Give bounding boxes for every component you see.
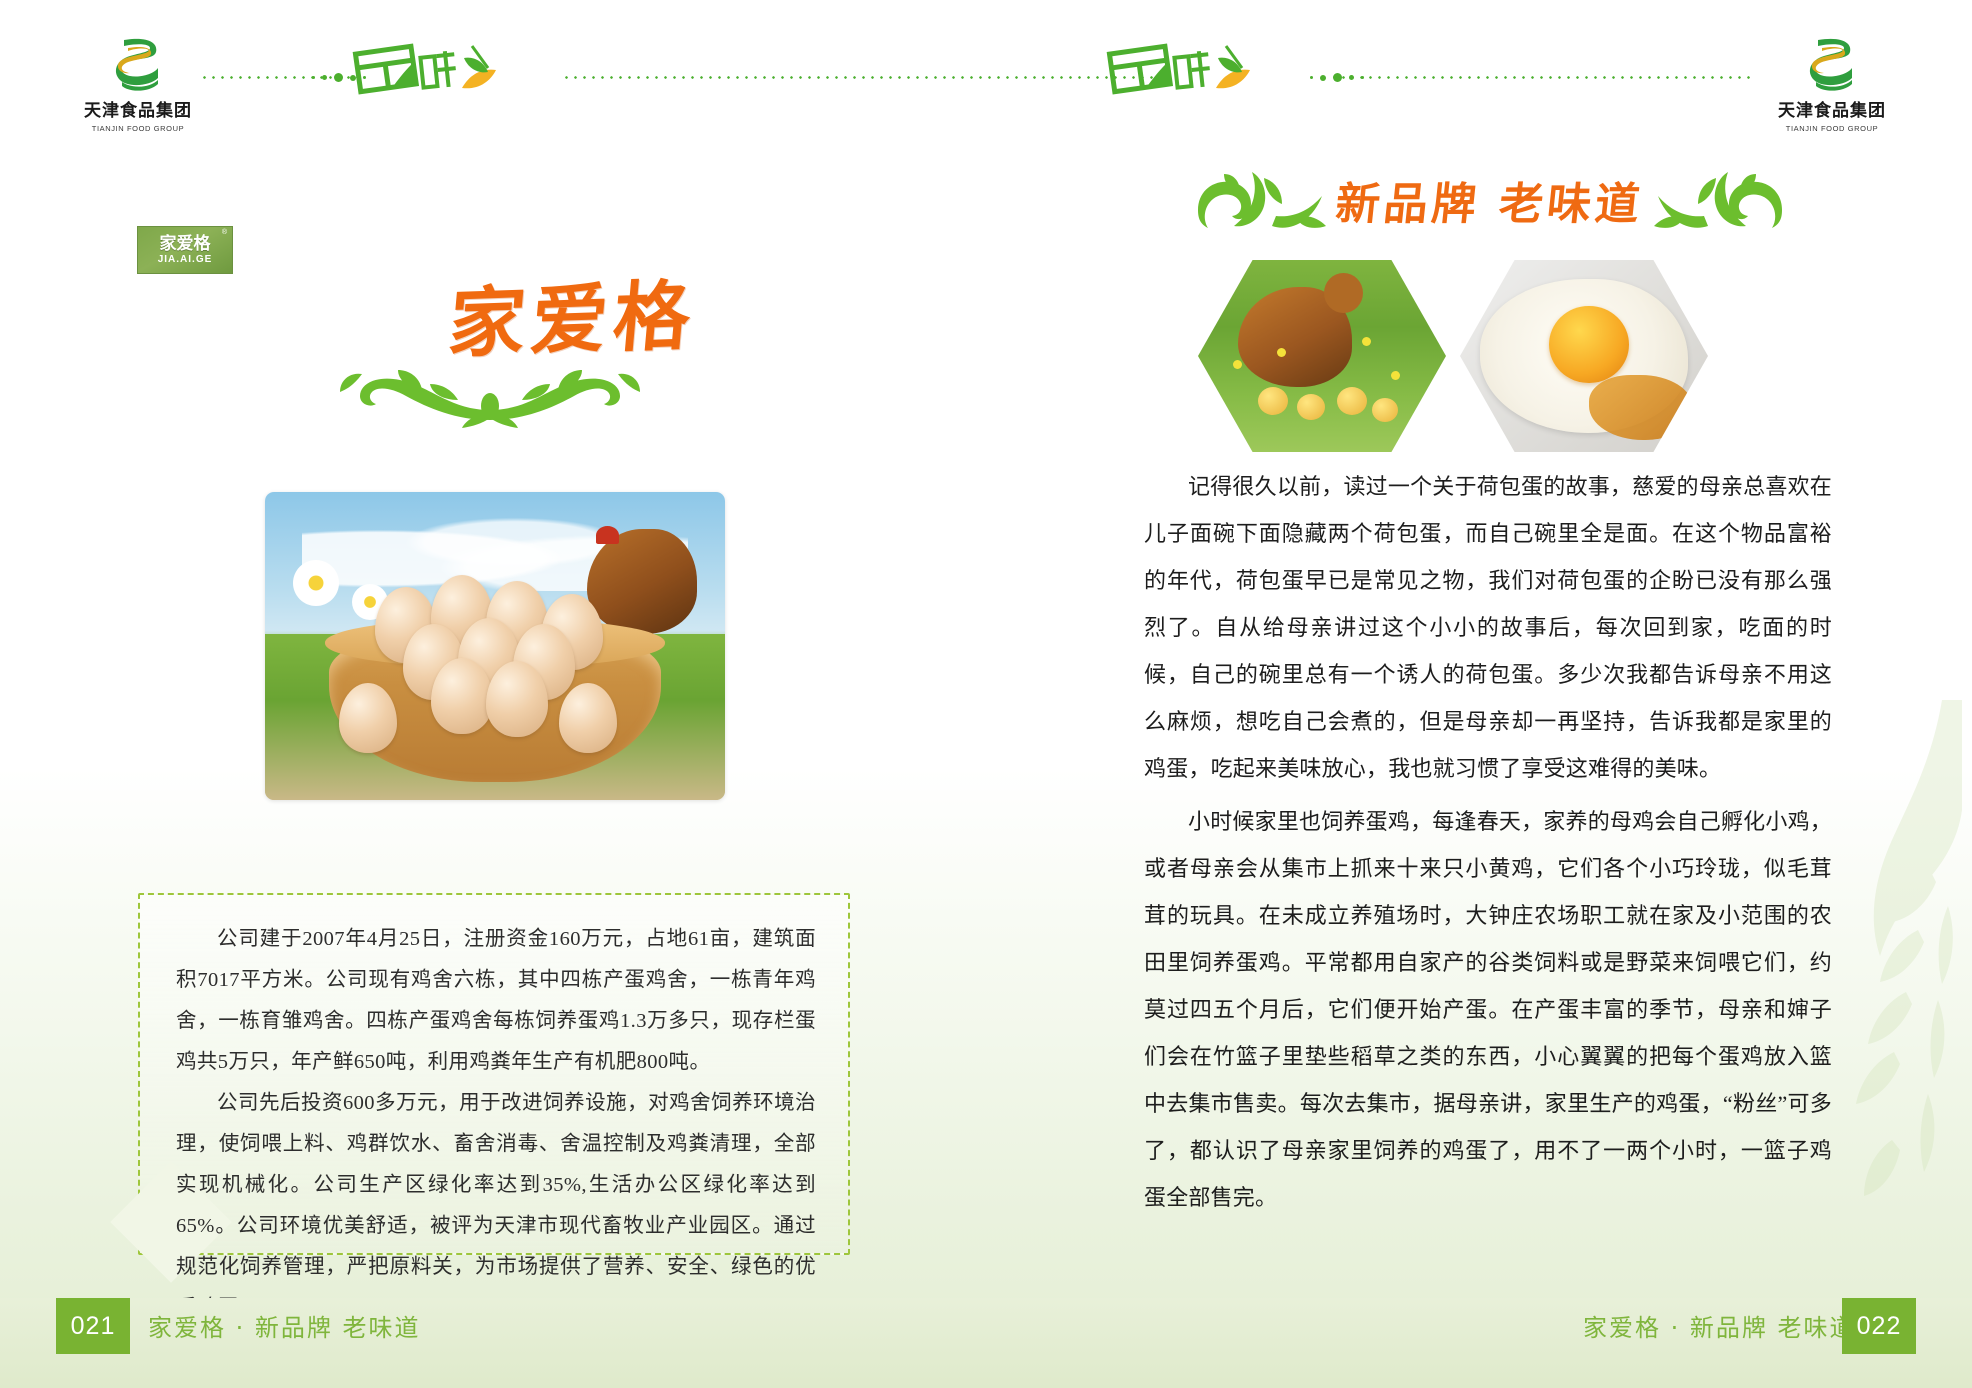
corporate-logo-right: 天津食品集团 TIANJIN FOOD GROUP — [1772, 34, 1892, 133]
page-header: 天津食品集团 TIANJIN FOOD GROUP 天津食品集团 TIANJIN… — [0, 0, 1972, 150]
corporate-name: 天津食品集团 — [1772, 102, 1892, 121]
story-paragraph: 记得很久以前，读过一个关于荷包蛋的故事，慈爱的母亲总喜欢在儿子面碗下面隐藏两个荷… — [1144, 463, 1832, 792]
egg-basket-photo — [265, 492, 725, 800]
tianjin-food-group-mark-icon — [106, 34, 170, 96]
story-body-text: 记得很久以前，读过一个关于荷包蛋的故事，慈爱的母亲总喜欢在儿子面碗下面隐藏两个荷… — [1144, 463, 1832, 1221]
badge-brand-cn: 家爱格 — [160, 236, 211, 253]
company-info-paragraph: 公司建于2007年4月25日，注册资金160万元，占地61亩，建筑面积7017平… — [176, 919, 816, 1083]
company-info-text: 公司建于2007年4月25日，注册资金160万元，占地61亩，建筑面积7017平… — [176, 919, 816, 1329]
hexagon-photo-pair — [1198, 260, 1698, 452]
header-dotted-rule-right — [1330, 76, 1750, 78]
jiaaige-brand-badge: ® 家爱格 JIA.AI.GE — [137, 226, 233, 274]
right-page-title-block: 新品牌 老味道 — [1190, 152, 1790, 248]
brand-story-emblem-icon — [352, 38, 502, 100]
page-footer: 021 家爱格 · 新品牌 老味道 家爱格 · 新品牌 老味道 022 — [0, 1298, 1972, 1388]
story-paragraph: 小时候家里也饲养蛋鸡，每逢春天，家养的母鸡会自己孵化小鸡，或者母亲会从集市上抓来… — [1144, 798, 1832, 1221]
corporate-name-en: TIANJIN FOOD GROUP — [78, 124, 198, 133]
badge-brand-pinyin: JIA.AI.GE — [158, 254, 213, 265]
vine-ornament-right-icon — [1640, 158, 1790, 244]
tianjin-food-group-mark-icon — [1800, 34, 1864, 96]
corporate-name-en: TIANJIN FOOD GROUP — [1772, 124, 1892, 133]
vine-ornament-left-icon — [1190, 158, 1340, 244]
header-dotted-rule-left — [200, 76, 360, 78]
magazine-spread: 天津食品集团 TIANJIN FOOD GROUP 天津食品集团 TIANJIN… — [0, 0, 1972, 1388]
floral-flourish-ornament-icon — [280, 340, 700, 430]
registered-mark: ® — [222, 229, 227, 236]
right-page-title: 新品牌 老味道 — [1333, 168, 1647, 232]
hen-and-chicks-photo — [1198, 260, 1446, 452]
left-page-number-tab: 021 — [56, 1298, 130, 1354]
brand-story-emblem-icon — [1106, 38, 1256, 100]
right-page-number-tab: 022 — [1842, 1298, 1916, 1354]
corporate-logo-left: 天津食品集团 TIANJIN FOOD GROUP — [78, 34, 198, 133]
hen-in-photo — [587, 529, 697, 634]
left-page-number: 021 — [71, 1312, 116, 1341]
right-page-number: 022 — [1857, 1312, 1902, 1341]
header-dotted-rule-center — [562, 76, 1162, 78]
company-info-callout: 公司建于2007年4月25日，注册资金160万元，占地61亩，建筑面积7017平… — [138, 893, 850, 1255]
company-info-paragraph: 公司先后投资600多万元，用于改进饲养设施，对鸡舍饲养环境治理，使饲喂上料、鸡群… — [176, 1083, 816, 1329]
corporate-name: 天津食品集团 — [78, 102, 198, 121]
left-footer-text: 家爱格 · 新品牌 老味道 — [148, 1308, 421, 1343]
fried-egg-photo — [1460, 260, 1708, 452]
right-footer-text: 家爱格 · 新品牌 老味道 — [1583, 1308, 1856, 1343]
